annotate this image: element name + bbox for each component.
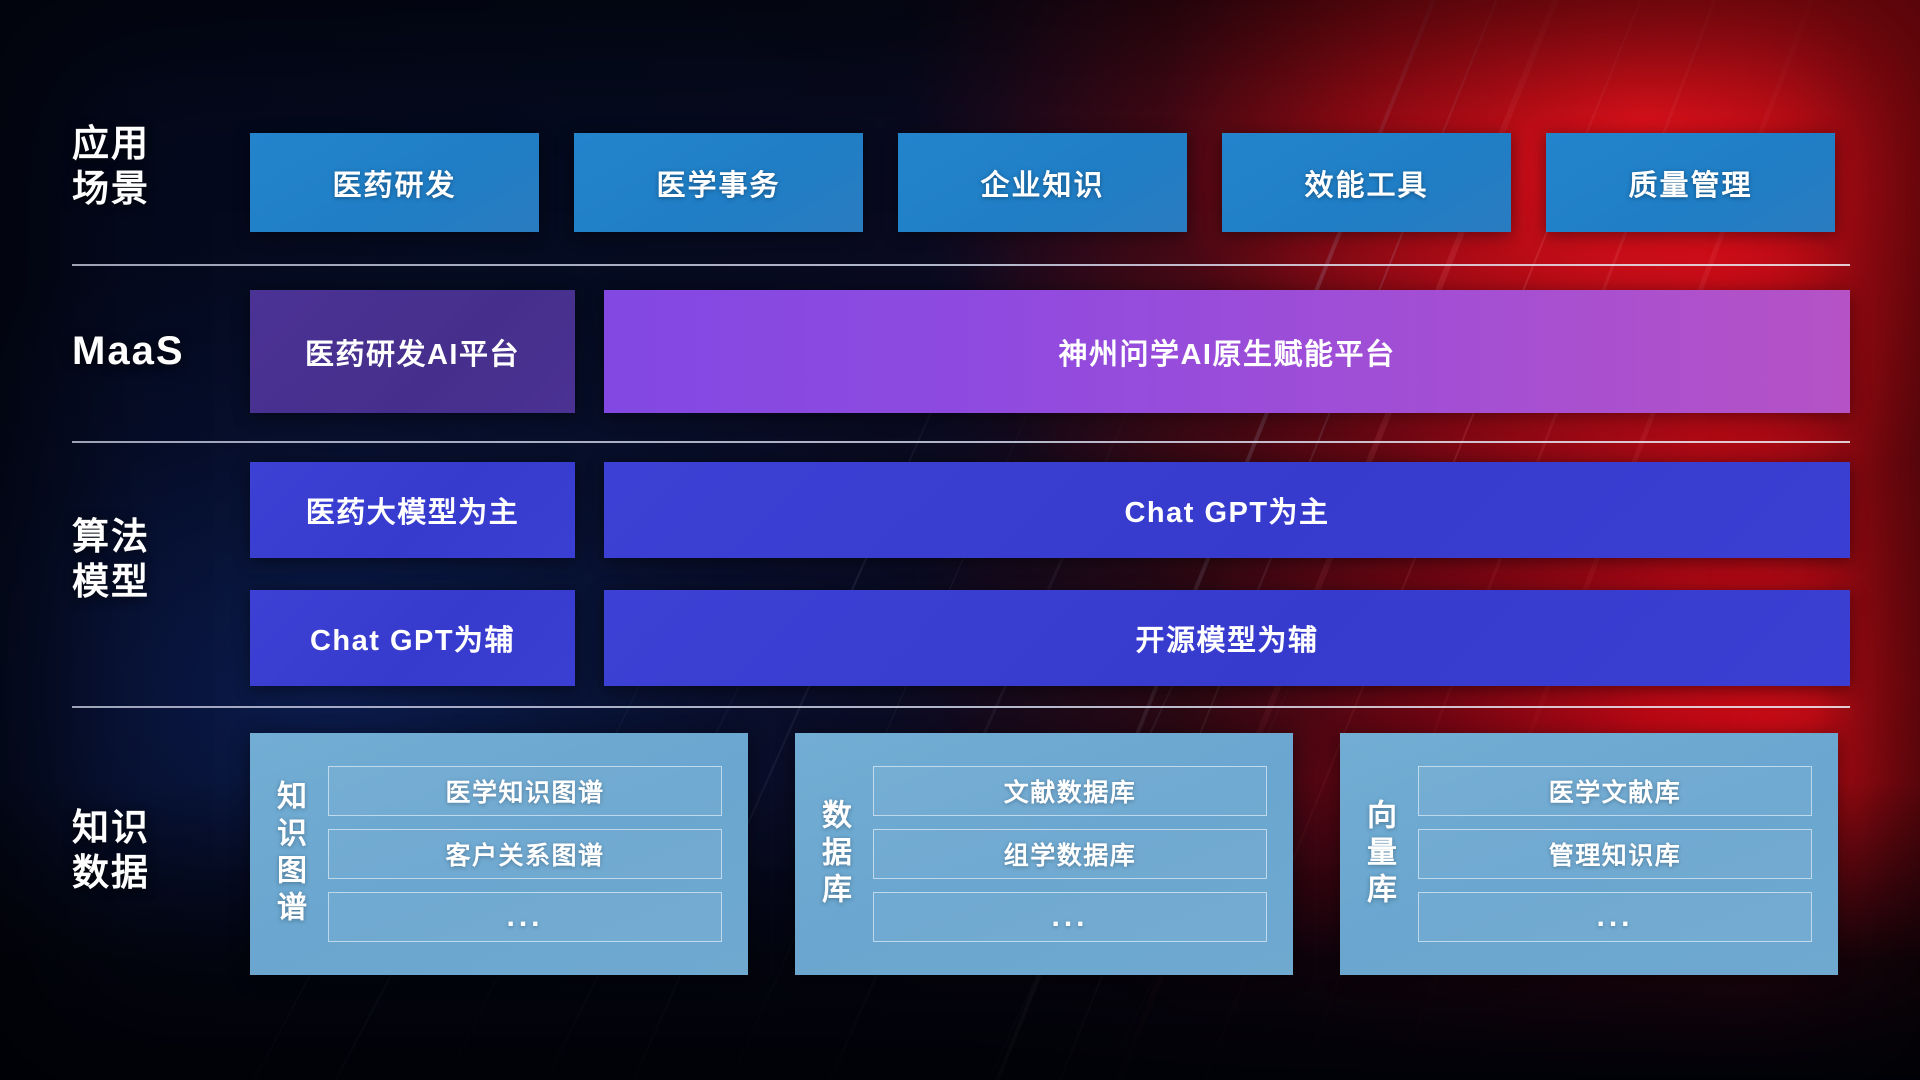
knowledge-panel-vector[interactable]: 向量库 医学文献库 管理知识库 ...	[1340, 733, 1838, 975]
app-box-label-0: 医药研发	[332, 162, 456, 204]
architecture-diagram: 应用 场景 医药研发 医学事务 企业知识 效能工具 质量管理 MaaS 医药研发…	[0, 0, 1920, 1080]
knowledge-panel-items-1: 文献数据库 组学数据库 ...	[871, 766, 1293, 942]
row-label-knowledge-data: 知识 数据	[72, 805, 240, 895]
knowledge-panel-graph[interactable]: 知识图谱 医学知识图谱 客户关系图谱 ...	[250, 733, 748, 975]
app-box-0[interactable]: 医药研发	[250, 133, 539, 232]
alg-box-label-0: 医药大模型为主	[306, 489, 520, 531]
divider-3	[72, 706, 1850, 708]
divider-1	[72, 264, 1850, 266]
row-label-application-scenario: 应用 场景	[72, 121, 240, 211]
knowledge-item-1-2[interactable]: ...	[873, 892, 1267, 942]
knowledge-item-2-0[interactable]: 医学文献库	[1418, 766, 1812, 816]
row-knowledge-data: 知识 数据 知识图谱 医学知识图谱 客户关系图谱 ... 数据库 文献数据库 组…	[0, 733, 1920, 975]
divider-2	[72, 441, 1850, 443]
knowledge-item-1-1[interactable]: 组学数据库	[873, 829, 1267, 879]
knowledge-item-0-1[interactable]: 客户关系图谱	[328, 829, 722, 879]
app-box-label-2: 企业知识	[980, 162, 1104, 204]
knowledge-panel-items-2: 医学文献库 管理知识库 ...	[1416, 766, 1838, 942]
app-box-label-4: 质量管理	[1628, 162, 1752, 204]
alg-box-chatgpt-primary[interactable]: Chat GPT为主	[604, 462, 1850, 558]
app-box-4[interactable]: 质量管理	[1546, 133, 1835, 232]
maas-enablement-label: 神州问学AI原生赋能平台	[1058, 331, 1395, 373]
knowledge-panel-database[interactable]: 数据库 文献数据库 组学数据库 ...	[795, 733, 1293, 975]
maas-platform-label: 医药研发AI平台	[305, 331, 520, 373]
maas-enablement-bar[interactable]: 神州问学AI原生赋能平台	[604, 290, 1850, 413]
alg-box-chatgpt-secondary[interactable]: Chat GPT为辅	[250, 590, 575, 686]
app-box-1[interactable]: 医学事务	[574, 133, 863, 232]
maas-platform-box[interactable]: 医药研发AI平台	[250, 290, 575, 413]
alg-box-label-2: Chat GPT为辅	[310, 617, 515, 659]
row-label-algorithm-model: 算法 模型	[72, 514, 240, 604]
app-box-label-3: 效能工具	[1304, 162, 1428, 204]
knowledge-panel-vertical-label-0: 知识图谱	[250, 780, 326, 928]
app-box-label-1: 医学事务	[656, 162, 780, 204]
row-maas: MaaS 医药研发AI平台 神州问学AI原生赋能平台	[0, 290, 1920, 413]
alg-box-label-3: 开源模型为辅	[1135, 617, 1318, 659]
knowledge-panel-vertical-label-2: 向量库	[1340, 799, 1416, 910]
app-box-3[interactable]: 效能工具	[1222, 133, 1511, 232]
knowledge-item-0-2[interactable]: ...	[328, 892, 722, 942]
alg-box-label-1: Chat GPT为主	[1124, 489, 1329, 531]
knowledge-item-2-2[interactable]: ...	[1418, 892, 1812, 942]
knowledge-item-2-1[interactable]: 管理知识库	[1418, 829, 1812, 879]
app-box-2[interactable]: 企业知识	[898, 133, 1187, 232]
knowledge-item-1-0[interactable]: 文献数据库	[873, 766, 1267, 816]
row-algorithm-model: 算法 模型 医药大模型为主 Chat GPT为主 Chat GPT为辅 开源模型…	[0, 462, 1920, 686]
knowledge-item-0-0[interactable]: 医学知识图谱	[328, 766, 722, 816]
knowledge-panel-vertical-label-1: 数据库	[795, 799, 871, 910]
row-application-scenario: 应用 场景 医药研发 医学事务 企业知识 效能工具 质量管理	[0, 133, 1920, 232]
alg-box-medical-primary[interactable]: 医药大模型为主	[250, 462, 575, 558]
alg-box-opensource-secondary[interactable]: 开源模型为辅	[604, 590, 1850, 686]
knowledge-panel-items-0: 医学知识图谱 客户关系图谱 ...	[326, 766, 748, 942]
row-label-maas: MaaS	[72, 327, 240, 376]
